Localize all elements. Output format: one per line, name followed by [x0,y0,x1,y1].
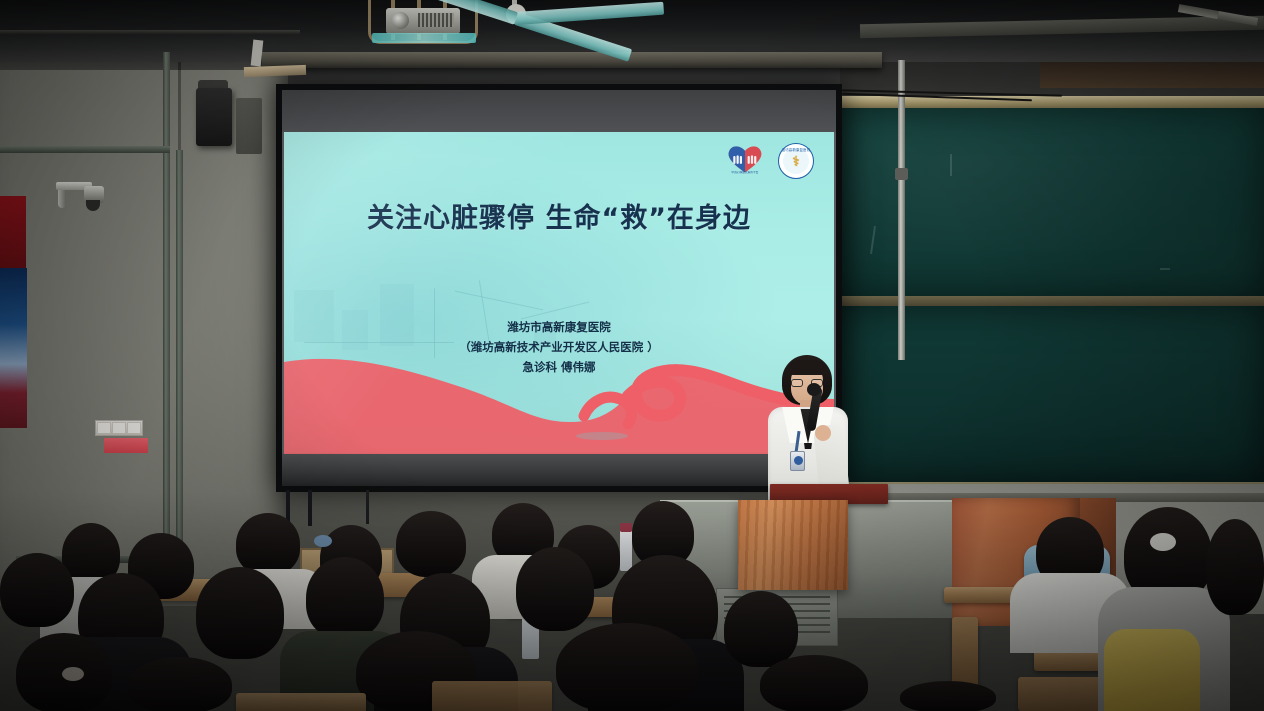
audience-body [1104,629,1200,711]
audience-head [196,567,284,659]
wall-control-box [236,98,262,154]
audience-head [396,511,466,577]
medical-emblem-icon: ⚕ [792,154,800,168]
heart-handshake-logo: 中国心胸血管麻醉学会 [725,141,765,181]
switch-label-sticker [104,438,148,453]
hair-tie [1150,533,1176,551]
light-switch-panel[interactable] [95,420,143,436]
audience-head [760,655,868,711]
ceiling-pipe [0,30,300,35]
presenter-id-badge [790,451,805,471]
projector-lens-icon [392,12,409,29]
audience [0,481,1264,711]
slide-title: 关注心脏骤停 生命“救”在身边 [284,196,834,235]
screen-top-band [282,90,836,132]
slide-ribbon-graphic [284,304,834,454]
pole-clip [895,168,908,180]
blackboard-upper-trim [1040,62,1264,88]
audience-head [516,547,594,631]
audience-head [556,623,698,711]
wall-poster-blue [0,268,27,428]
bench-desk [236,693,366,711]
audience-head [236,513,300,575]
audience-head [128,657,232,711]
bench-desk [432,681,552,711]
hair-tie [314,535,332,547]
wall-speaker [196,88,232,146]
audience-head [1206,519,1264,615]
projection-screen: 中国心胸血管麻醉学会 潍坊高新康复医院 ⚕ 关注心脏骤停 生命“救”在身边 潍坊… [282,90,836,486]
audience-head [724,591,798,667]
bottle-cap [620,523,632,532]
projector-vents [418,13,454,27]
heart-logo-caption: 中国心胸血管麻醉学会 [721,171,769,175]
bench-leg [952,617,978,687]
presentation-slide: 中国心胸血管麻醉学会 潍坊高新康复医院 ⚕ 关注心脏骤停 生命“救”在身边 潍坊… [284,132,834,454]
seal-caption: 潍坊高新康复医院 [779,147,813,152]
lecture-hall-scene: 中国心胸血管麻醉学会 潍坊高新康复医院 ⚕ 关注心脏骤停 生命“救”在身边 潍坊… [0,0,1264,711]
audience-head [0,553,74,627]
presenter-fringe [788,360,826,375]
projector-glow [372,33,476,43]
screen-pull-pole[interactable] [898,60,905,360]
audience-head [306,557,384,639]
slide-logos: 中国心胸血管麻醉学会 潍坊高新康复医院 ⚕ [725,141,814,181]
wall-poster-red [0,196,26,276]
hair-clip [62,667,84,681]
audience-head [900,681,996,711]
microphone-head [807,383,821,396]
ceiling-beam [262,52,882,68]
hospital-seal-logo: 潍坊高新康复医院 ⚕ [778,143,814,179]
ceiling-fan-right [1182,2,1256,24]
presenter-hand [815,425,831,441]
wall-pipe-horizontal [0,146,170,153]
water-bottle [620,529,632,571]
